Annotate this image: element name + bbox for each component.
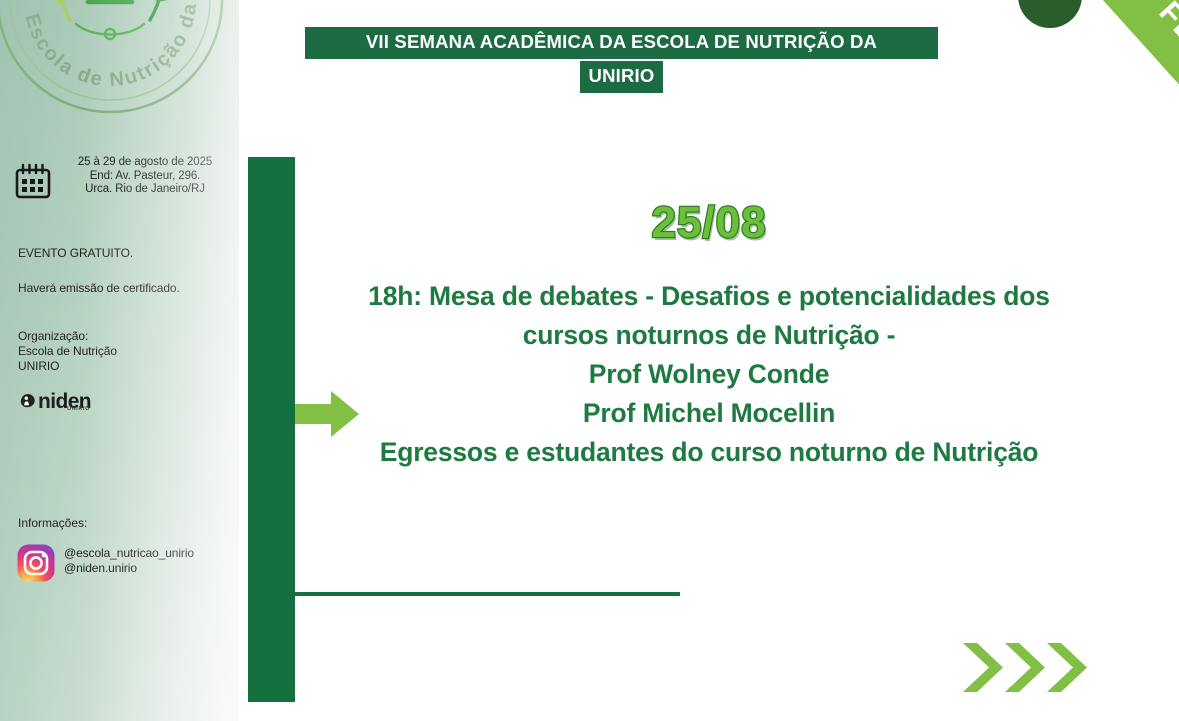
event-poster: Escola de Nutrição da Unirio [0, 0, 1179, 721]
horizontal-divider [295, 592, 680, 596]
organization-name: Escola de Nutrição [18, 344, 117, 358]
main-content: VII SEMANA ACADÊMICA DA ESCOLA DE NUTRIÇ… [239, 0, 1179, 721]
niden-wordmark: niden UNIRIO [38, 392, 91, 411]
escola-nutricao-seal-logo: Escola de Nutrição da Unirio [0, 0, 228, 118]
event-title-line2: UNIRIO [580, 61, 664, 93]
calendar-icon [14, 162, 52, 205]
event-date-block: 25 à 29 de agosto de 2025 End: Av. Paste… [14, 156, 230, 205]
event-dates: 25 à 29 de agosto de 2025 [78, 156, 212, 168]
event-title-banner: VII SEMANA ACADÊMICA DA ESCOLA DE NUTRIÇ… [304, 27, 939, 93]
event-day-date: 25/08 [239, 198, 1179, 248]
session-line-3: Nutrição - [774, 320, 896, 350]
session-description: 18h: Mesa de debates - Desafios e potenc… [339, 277, 1079, 472]
session-line-7: Nutrição [932, 437, 1038, 467]
niden-subtitle: UNIRIO [67, 400, 90, 419]
instagram-icon[interactable] [17, 544, 55, 582]
event-title-line1: VII SEMANA ACADÊMICA DA ESCOLA DE NUTRIÇ… [305, 27, 938, 59]
organization-block: Organização: Escola de Nutrição UNIRIO [18, 329, 218, 374]
event-address-line2: Urca. Rio de Janeiro/RJ [85, 183, 205, 195]
session-line-6: Egressos e estudantes do curso noturno d… [380, 437, 925, 467]
sidebar-panel: Escola de Nutrição da Unirio [0, 0, 239, 721]
instagram-handle-niden[interactable]: @niden.unirio [64, 561, 137, 575]
free-event-note: EVENTO GRATUITO. [18, 246, 218, 261]
session-line-1: 18h: Mesa de debates - Desafios e [368, 281, 791, 311]
ribbon-circle-decoration [1018, 0, 1082, 28]
info-label: Informações: [18, 516, 87, 530]
certificate-note: Haverá emissão de certificado. [18, 281, 218, 296]
instagram-handles[interactable]: @escola_nutricao_unirio @niden.unirio [64, 544, 194, 576]
session-line-5: Prof Michel Mocellin [583, 398, 835, 428]
organization-label: Organização: [18, 329, 88, 343]
organization-unit: UNIRIO [18, 359, 59, 373]
instagram-block[interactable]: @escola_nutricao_unirio @niden.unirio [17, 544, 194, 582]
event-date-text: 25 à 29 de agosto de 2025 End: Av. Paste… [60, 156, 230, 197]
triple-chevron-right-icon [961, 640, 1091, 695]
niden-mark-icon [20, 393, 36, 410]
session-line-4: Prof Wolney Conde [589, 359, 830, 389]
event-address-line1: End: Av. Pasteur, 296. [90, 170, 201, 182]
niden-logo: niden UNIRIO [20, 392, 91, 411]
instagram-handle-escola[interactable]: @escola_nutricao_unirio [64, 546, 194, 560]
